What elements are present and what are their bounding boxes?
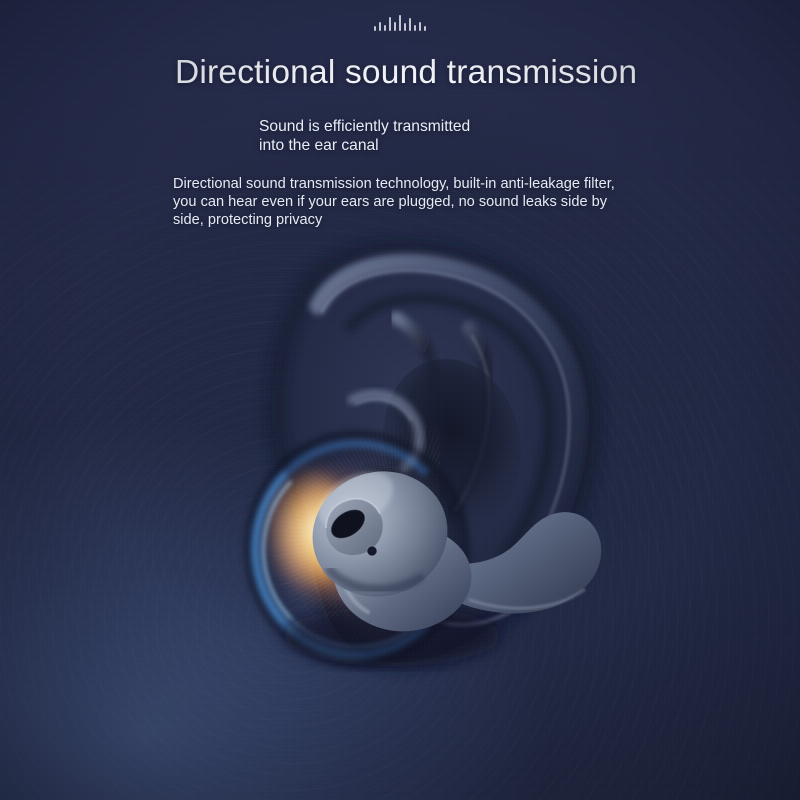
earbud-hook-highlight	[470, 590, 584, 608]
page-subtitle: Sound is efficiently transmitted into th…	[259, 117, 470, 155]
sound-waveform-icon	[0, 9, 800, 31]
ear-antihelix-main	[452, 328, 489, 512]
ear-antihelix-edge-light	[455, 336, 489, 510]
product-feature-banner: Directional sound transmission Sound is …	[0, 0, 800, 800]
subtitle-line-1: Sound is efficiently transmitted	[259, 117, 470, 136]
speaker-rim-arc-light	[262, 452, 452, 648]
subtitle-line-2: into the ear canal	[259, 136, 470, 155]
ear-crus-edge-light	[356, 399, 411, 420]
feature-description: Directional sound transmission technolog…	[173, 175, 623, 230]
page-title: Directional sound transmission	[175, 54, 637, 92]
